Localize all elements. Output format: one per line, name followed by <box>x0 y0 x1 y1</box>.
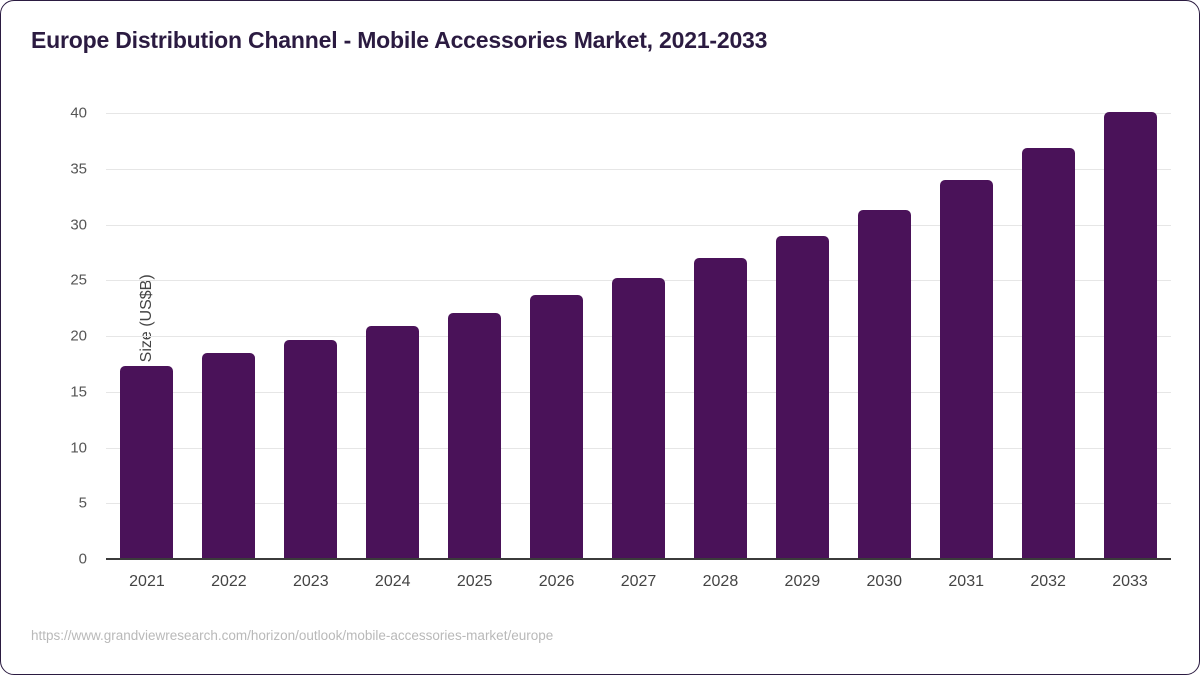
gridline <box>106 169 1171 170</box>
x-axis-tick: 2023 <box>271 573 351 591</box>
chart-canvas: Europe Distribution Channel - Mobile Acc… <box>0 0 1200 675</box>
y-axis-tick: 25 <box>27 272 87 289</box>
bar[interactable] <box>530 295 583 559</box>
x-axis-tick: 2029 <box>762 573 842 591</box>
bar[interactable] <box>858 210 911 559</box>
x-axis-tick: 2027 <box>599 573 679 591</box>
y-axis-tick: 15 <box>27 383 87 400</box>
x-axis-tick: 2030 <box>844 573 924 591</box>
y-axis-tick: 40 <box>27 105 87 122</box>
source-url-link[interactable]: https://www.grandviewresearch.com/horizo… <box>31 628 553 643</box>
y-axis-tick: 30 <box>27 216 87 233</box>
bar[interactable] <box>940 180 993 559</box>
x-axis-tick: 2026 <box>517 573 597 591</box>
x-axis-tick: 2021 <box>107 573 187 591</box>
bar[interactable] <box>1022 148 1075 559</box>
bar[interactable] <box>448 313 501 559</box>
x-axis-tick: 2025 <box>435 573 515 591</box>
bar[interactable] <box>120 366 173 559</box>
x-axis-tick: 2028 <box>680 573 760 591</box>
x-axis-tick: 2033 <box>1090 573 1170 591</box>
y-axis-tick: 35 <box>27 160 87 177</box>
y-axis-tick: 20 <box>27 328 87 345</box>
plot-area <box>106 113 1171 559</box>
x-axis-tick: 2031 <box>926 573 1006 591</box>
bar[interactable] <box>776 236 829 559</box>
x-axis-tick: 2032 <box>1008 573 1088 591</box>
x-axis-line <box>106 558 1171 560</box>
x-axis-tick: 2022 <box>189 573 269 591</box>
gridline <box>106 225 1171 226</box>
page-title: Europe Distribution Channel - Mobile Acc… <box>31 27 767 54</box>
bar[interactable] <box>612 278 665 559</box>
bar[interactable] <box>1104 112 1157 559</box>
bar[interactable] <box>202 353 255 559</box>
gridline <box>106 113 1171 114</box>
x-axis-tick: 2024 <box>353 573 433 591</box>
y-axis-tick: 5 <box>27 495 87 512</box>
bar[interactable] <box>694 258 747 559</box>
y-axis-tick: 0 <box>27 551 87 568</box>
bar[interactable] <box>366 326 419 559</box>
y-axis-tick: 10 <box>27 439 87 456</box>
bar[interactable] <box>284 340 337 559</box>
